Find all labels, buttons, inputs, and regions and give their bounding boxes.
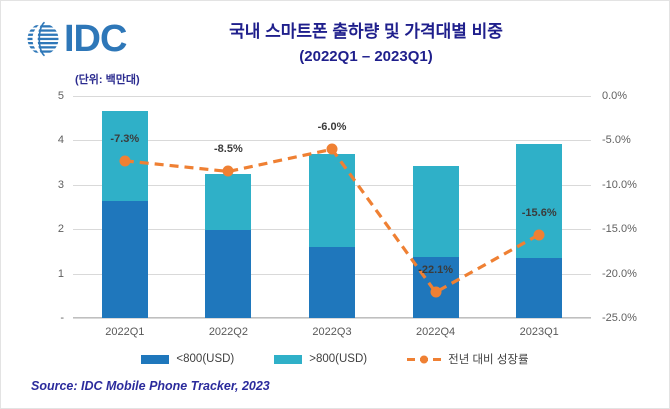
- data-point-marker[interactable]: [430, 287, 441, 298]
- legend-label: >800(USD): [309, 353, 367, 365]
- legend-swatch: [274, 355, 302, 364]
- x-axis-tick-label: 2023Q1: [520, 326, 559, 338]
- source-note: Source: IDC Mobile Phone Tracker, 2023: [31, 379, 270, 393]
- idc-logo: IDC: [23, 17, 148, 61]
- data-point-label: -15.6%: [522, 207, 557, 219]
- title-block: 국내 스마트폰 출하량 및 가격대별 비중 (2022Q1 – 2023Q1): [161, 21, 571, 66]
- y-axis-left-tick: 3: [58, 179, 64, 191]
- legend-item[interactable]: 전년 대비 성장률: [407, 351, 528, 367]
- y-axis-left-tick: 2: [58, 223, 64, 235]
- y-axis-right-tick: 0.0%: [602, 90, 627, 102]
- legend-label: 전년 대비 성장률: [448, 351, 528, 367]
- data-point-marker[interactable]: [534, 229, 545, 240]
- y-axis-right-tick: -5.0%: [602, 134, 631, 146]
- legend-item[interactable]: >800(USD): [274, 353, 367, 365]
- legend-label: <800(USD): [176, 353, 234, 365]
- x-axis-tick-label: 2022Q4: [416, 326, 455, 338]
- x-axis-tick-label: 2022Q3: [312, 326, 351, 338]
- data-point-label: -6.0%: [318, 121, 347, 133]
- x-axis-tick-label: 2022Q2: [209, 326, 248, 338]
- page-title: 국내 스마트폰 출하량 및 가격대별 비중: [161, 21, 571, 42]
- data-point-marker[interactable]: [223, 166, 234, 177]
- legend-item[interactable]: <800(USD): [141, 353, 234, 365]
- y-axis-left-tick: 1: [58, 268, 64, 280]
- growth-line: [125, 149, 539, 292]
- y-axis-left-tick: -: [60, 312, 64, 324]
- page-subtitle: (2022Q1 – 2023Q1): [161, 48, 571, 66]
- chart-legend: <800(USD)>800(USD)전년 대비 성장률: [1, 351, 669, 367]
- y-axis-right-tick: -10.0%: [602, 179, 637, 191]
- y-axis-right-tick: -25.0%: [602, 312, 637, 324]
- chart-page: IDC 국내 스마트폰 출하량 및 가격대별 비중 (2022Q1 – 2023…: [0, 0, 670, 409]
- y-axis-right-tick: -15.0%: [602, 223, 637, 235]
- data-point-label: -22.1%: [418, 264, 453, 276]
- y-axis-left-tick: 4: [58, 134, 64, 146]
- idc-globe-icon: [23, 19, 63, 59]
- y-axis-right-tick: -20.0%: [602, 268, 637, 280]
- data-point-label: -8.5%: [214, 143, 243, 155]
- data-point-marker[interactable]: [327, 144, 338, 155]
- data-point-marker[interactable]: [119, 155, 130, 166]
- legend-line-marker-icon: [407, 354, 441, 365]
- data-point-label: -7.3%: [110, 133, 139, 145]
- x-axis-tick-label: 2022Q1: [105, 326, 144, 338]
- y-axis-left-tick: 5: [58, 90, 64, 102]
- legend-swatch: [141, 355, 169, 364]
- idc-wordmark: IDC: [64, 20, 126, 58]
- gridline: [73, 318, 591, 319]
- plot-area: -12345 -25.0%-20.0%-15.0%-10.0%-5.0%0.0%…: [73, 96, 591, 318]
- unit-note: (단위: 백만대): [75, 71, 140, 87]
